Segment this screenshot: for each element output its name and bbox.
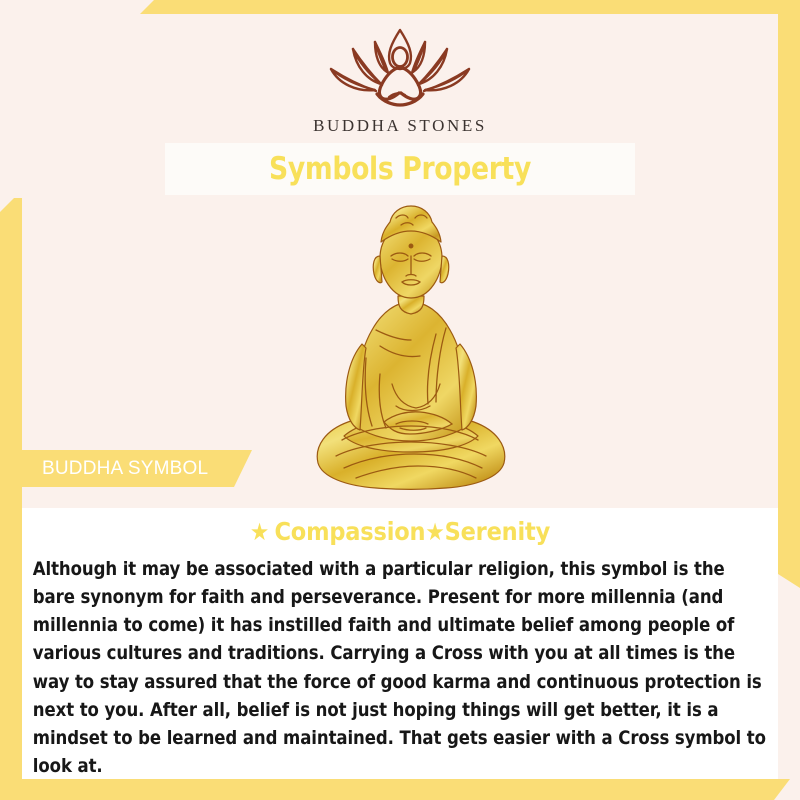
bottom-accent-band (0, 779, 790, 800)
content-section: ★Compassion★Serenity Although it may be … (22, 508, 778, 779)
star-icon-right: ★ (425, 518, 444, 546)
subtitle-word-two: Serenity (445, 517, 551, 546)
infographic-page: BUDDHA STONES Symbols Property (0, 0, 800, 800)
seated-buddha-icon (296, 198, 526, 493)
left-accent-band (0, 198, 22, 800)
brand-name: BUDDHA STONES (0, 116, 800, 136)
content-body-text: Although it may be associated with a par… (22, 546, 780, 781)
brand-logo: BUDDHA STONES (0, 22, 800, 136)
subtitle-word-one: Compassion (274, 517, 425, 546)
ribbon-label: BUDDHA SYMBOL (22, 458, 208, 480)
page-title-band: Symbols Property (165, 143, 635, 195)
section-ribbon: BUDDHA SYMBOL (22, 450, 252, 487)
page-title: Symbols Property (198, 143, 602, 195)
content-subtitle: ★Compassion★Serenity (60, 508, 740, 546)
star-icon-left: ★ (250, 518, 269, 546)
lotus-meditation-icon (315, 22, 485, 114)
top-accent-band (140, 0, 800, 14)
